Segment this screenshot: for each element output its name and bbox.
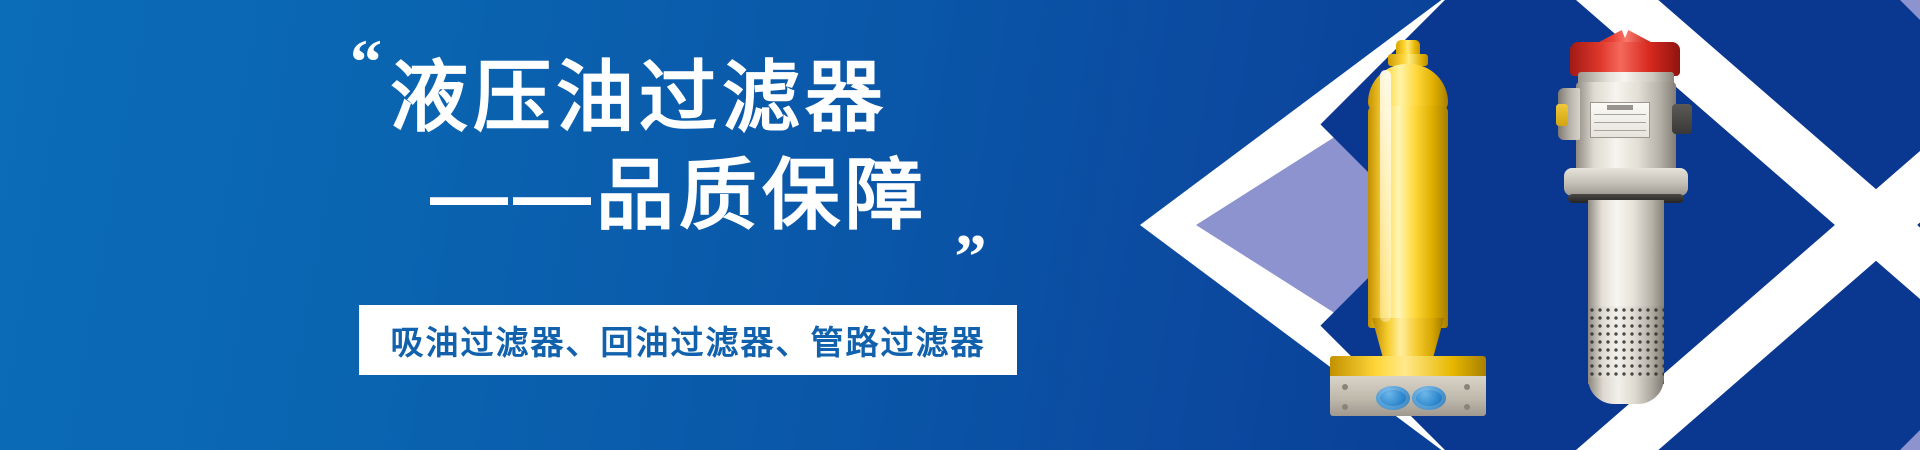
promo-banner: “ 液压油过滤器 ——品质保障 „ 吸油过滤器、回油过滤器、管路过滤器	[0, 0, 1920, 450]
nameplate-row	[1594, 122, 1646, 123]
subtitle-text: 吸油过滤器、回油过滤器、管路过滤器	[391, 316, 986, 364]
yellow-filter-port-left	[1376, 386, 1410, 410]
yellow-filter-highlight	[1380, 70, 1391, 322]
product-image-yellow-pressure-filter	[1318, 40, 1498, 410]
product-image-white-return-filter	[1524, 30, 1734, 420]
yellow-filter-taper	[1372, 318, 1444, 360]
return-filter-perforated-strainer	[1588, 306, 1664, 384]
return-filter-red-cap	[1570, 42, 1680, 76]
headline-line-2: ——品质保障	[430, 156, 928, 234]
headline-block: “ 液压油过滤器 ——品质保障 „ 吸油过滤器、回油过滤器、管路过滤器	[345, 22, 1045, 422]
yellow-filter-bolt	[1464, 404, 1470, 410]
yellow-filter-bolt	[1342, 384, 1348, 390]
yellow-filter-port-right	[1412, 386, 1446, 410]
nameplate-row	[1594, 130, 1646, 131]
headline-line-1: 液压油过滤器	[390, 58, 888, 136]
return-filter-bottom-cap	[1588, 378, 1664, 404]
return-filter-indicator-knob	[1672, 104, 1692, 134]
nameplate-title-bar	[1607, 105, 1633, 110]
return-filter-mounting-flange	[1564, 168, 1688, 196]
open-quote-icon: “	[350, 30, 380, 94]
yellow-filter-base-yellow	[1330, 356, 1486, 378]
diamond-white-border	[1140, 0, 1900, 450]
return-filter-nameplate	[1590, 102, 1650, 138]
return-filter-yellow-plug	[1556, 104, 1568, 126]
yellow-filter-bolt	[1342, 404, 1348, 410]
nameplate-row	[1594, 114, 1646, 115]
close-quote-icon: „	[955, 192, 985, 256]
yellow-filter-bolt	[1464, 384, 1470, 390]
subtitle-box: 吸油过滤器、回油过滤器、管路过滤器	[359, 305, 1017, 375]
